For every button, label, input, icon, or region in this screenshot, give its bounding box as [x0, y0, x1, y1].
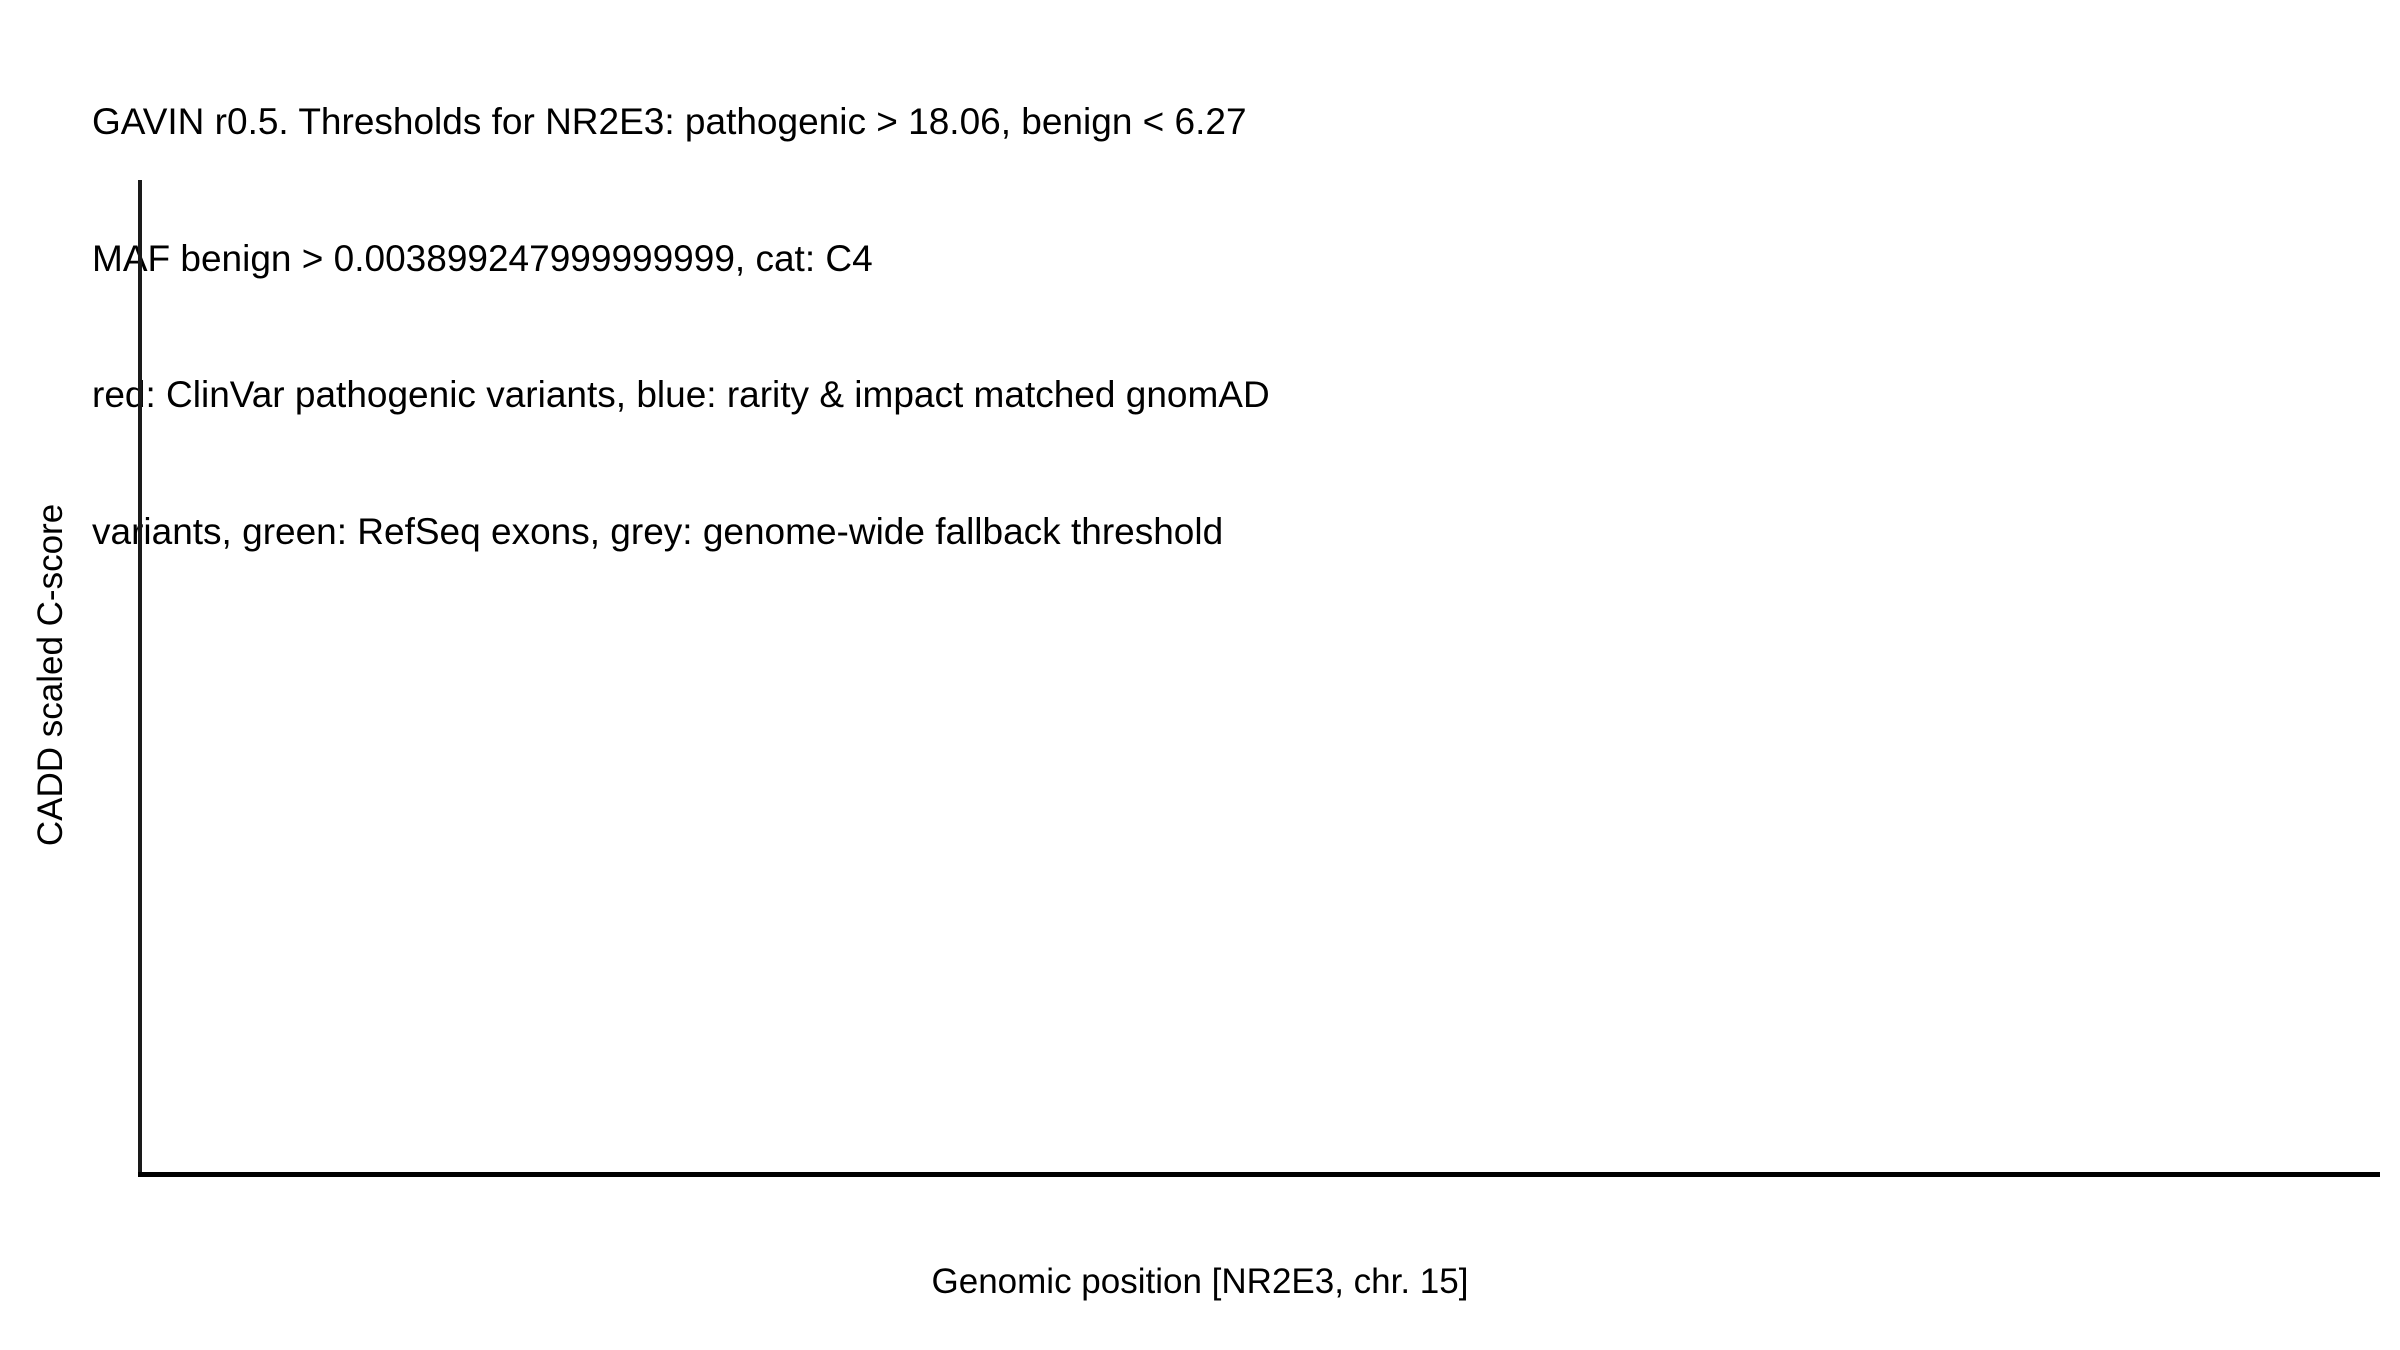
- plot-root: GAVIN r0.5. Thresholds for NR2E3: pathog…: [0, 0, 2400, 1350]
- title-line-1: GAVIN r0.5. Thresholds for NR2E3: pathog…: [92, 99, 2372, 145]
- x-axis-title: Genomic position [NR2E3, chr. 15]: [0, 1262, 2400, 1302]
- x-axis-line: [138, 1172, 2380, 1177]
- plot-panel: [140, 180, 2378, 1172]
- y-axis-title: CADD scaled C-score: [31, 295, 71, 1055]
- y-axis-line: [138, 180, 142, 1176]
